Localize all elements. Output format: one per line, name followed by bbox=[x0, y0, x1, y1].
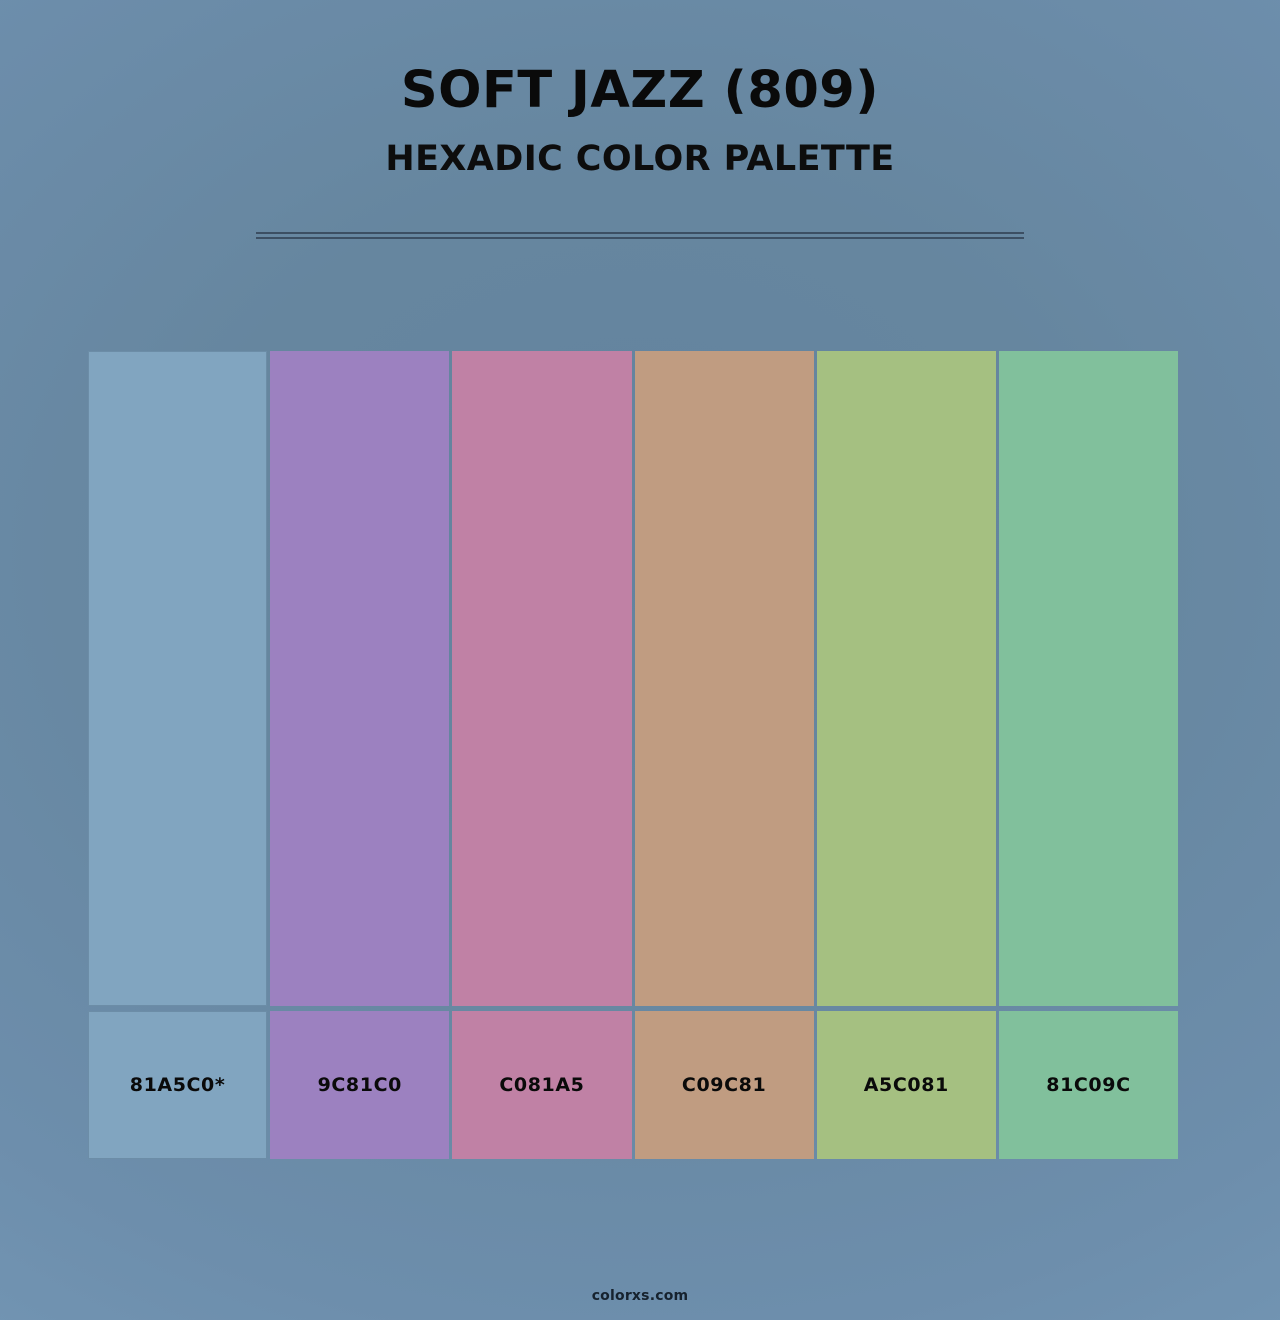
color-swatch[interactable] bbox=[635, 351, 814, 1006]
hex-code-label: 81A5C0* bbox=[130, 1074, 226, 1096]
page-title: SOFT JAZZ (809) bbox=[0, 64, 1280, 118]
color-swatch[interactable] bbox=[88, 351, 267, 1006]
hex-code-label: 9C81C0 bbox=[318, 1074, 402, 1096]
color-label-cell[interactable]: C081A5 bbox=[452, 1011, 631, 1159]
site-credit: colorxs.com bbox=[592, 1288, 689, 1304]
color-swatch-row bbox=[88, 351, 1178, 1006]
hex-code-label: C081A5 bbox=[499, 1074, 584, 1096]
hex-code-label: C09C81 bbox=[682, 1074, 766, 1096]
color-swatch[interactable] bbox=[999, 351, 1178, 1006]
divider-line-top bbox=[256, 232, 1024, 234]
color-label-cell[interactable]: A5C081 bbox=[817, 1011, 996, 1159]
page-header: SOFT JAZZ (809) HEXADIC COLOR PALETTE bbox=[0, 64, 1280, 178]
color-palette: 81A5C0* 9C81C0 C081A5 C09C81 A5C081 81C0… bbox=[88, 351, 1178, 1159]
color-label-cell[interactable]: 81C09C bbox=[999, 1011, 1178, 1159]
header-divider bbox=[256, 232, 1024, 239]
page-footer: colorxs.com bbox=[0, 1285, 1280, 1304]
palette-page: SOFT JAZZ (809) HEXADIC COLOR PALETTE 81… bbox=[0, 0, 1280, 1320]
hex-code-label: A5C081 bbox=[864, 1074, 949, 1096]
color-swatch[interactable] bbox=[452, 351, 631, 1006]
hex-code-label: 81C09C bbox=[1046, 1074, 1130, 1096]
color-label-cell[interactable]: 9C81C0 bbox=[270, 1011, 449, 1159]
color-label-cell[interactable]: C09C81 bbox=[635, 1011, 814, 1159]
color-label-row: 81A5C0* 9C81C0 C081A5 C09C81 A5C081 81C0… bbox=[88, 1011, 1178, 1159]
color-swatch[interactable] bbox=[817, 351, 996, 1006]
color-swatch[interactable] bbox=[270, 351, 449, 1006]
divider-line-bottom bbox=[256, 237, 1024, 239]
color-label-cell[interactable]: 81A5C0* bbox=[88, 1011, 267, 1159]
page-subtitle: HEXADIC COLOR PALETTE bbox=[0, 141, 1280, 178]
